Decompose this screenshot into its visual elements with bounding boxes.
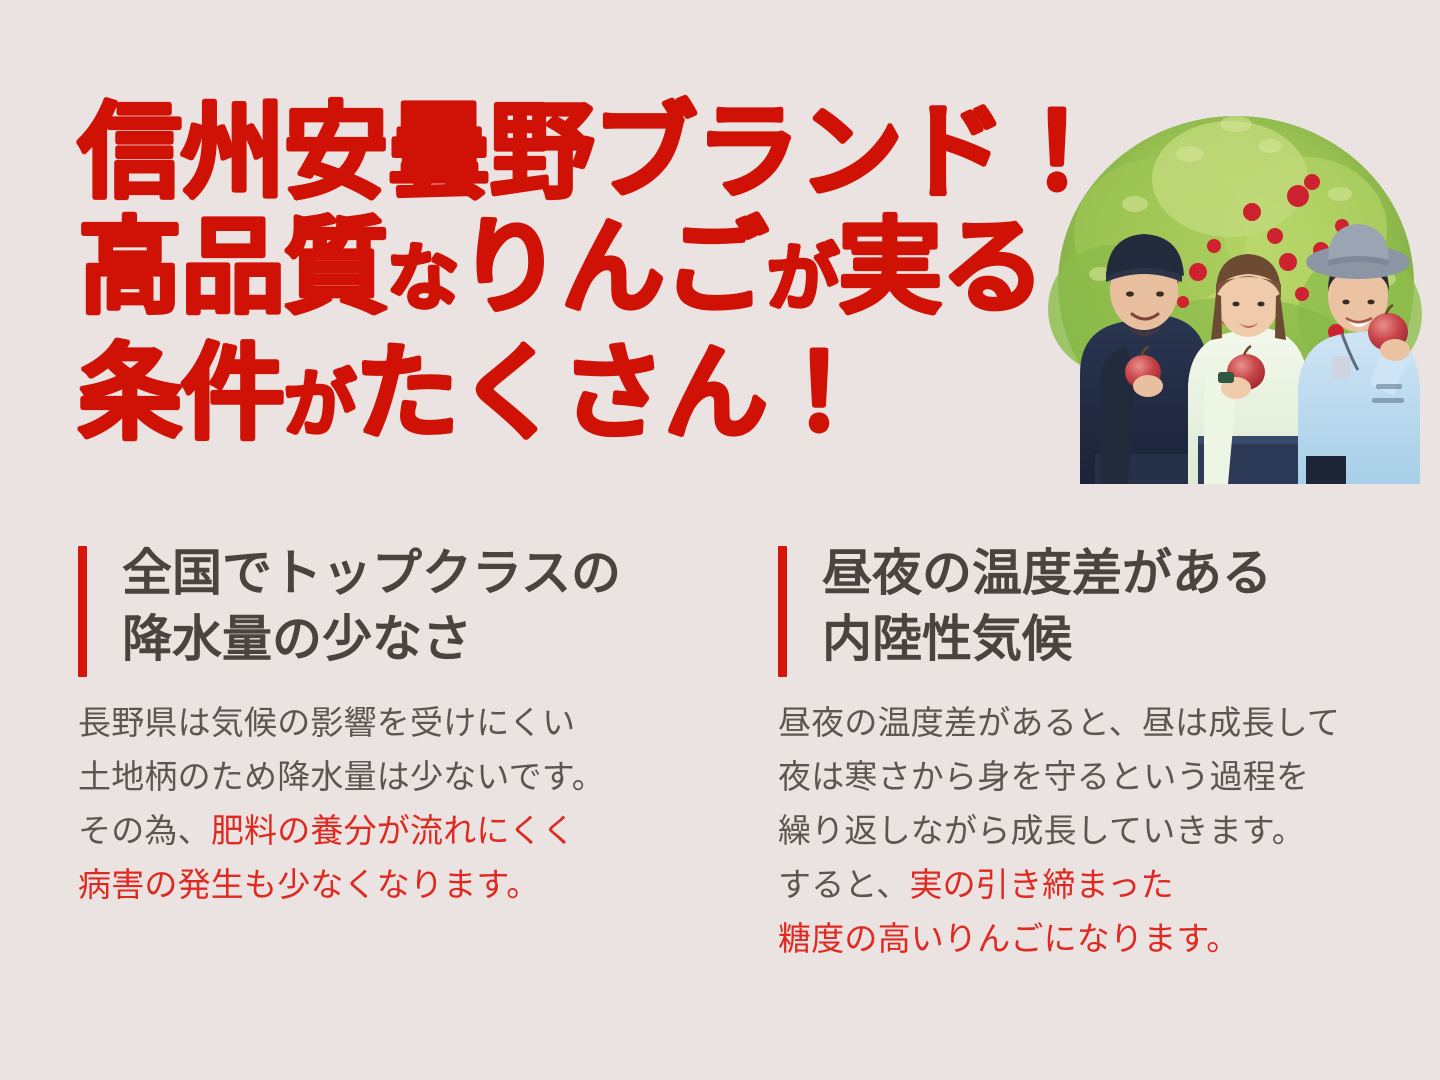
person-right: [1298, 224, 1420, 484]
headline-run: 条件: [78, 336, 284, 452]
headline-run: 高品質: [78, 210, 387, 326]
headline-run: が: [284, 365, 355, 445]
accent-bar-icon: [78, 546, 87, 677]
body-highlight: 糖度の高いりんごになります。: [778, 920, 1240, 957]
headline-run: 実る: [838, 210, 1044, 326]
wristwatch: [1218, 372, 1234, 383]
column-heading-inland-climate: 昼夜の温度差がある 内陸性気候: [778, 540, 822, 672]
headline-line-2: 高品質なりんごが実る: [78, 211, 1078, 337]
headline-run: たくさん！: [355, 336, 870, 452]
headline-block: 信州安曇野ブランド！ 高品質なりんごが実る 条件がたくさん！: [78, 96, 1078, 463]
body-text: 夜は寒さから身を守るという過程を: [778, 758, 1309, 795]
feature-columns: 全国でトップクラスの 降水量の少なさ 長野県は気候の影響を受けにくい土地柄のため…: [0, 540, 1440, 966]
slide-root: 信州安曇野ブランド！ 高品質なりんごが実る 条件がたくさん！: [0, 0, 1440, 1080]
heading-line: 降水量の少なさ: [122, 606, 700, 672]
body-text: すると、: [778, 866, 909, 903]
accent-bar-icon: [778, 546, 787, 677]
body-highlight: 実の引き締まった: [909, 866, 1173, 903]
headline-line-3: 条件がたくさん！: [78, 337, 1078, 463]
heading-line: 全国でトップクラスの: [122, 540, 700, 606]
headline-run: な: [387, 239, 458, 319]
headline-line-1: 信州安曇野ブランド！: [78, 96, 1078, 211]
name-tag: [1332, 356, 1350, 380]
headline-run: りんご: [458, 210, 767, 326]
body-text: 繰り返しながら成長していきます。: [778, 812, 1305, 849]
column-heading-precipitation: 全国でトップクラスの 降水量の少なさ: [78, 540, 700, 672]
headline-run: が: [767, 239, 838, 319]
body-text: 昼夜の温度差があると、昼は成長して: [778, 704, 1340, 741]
